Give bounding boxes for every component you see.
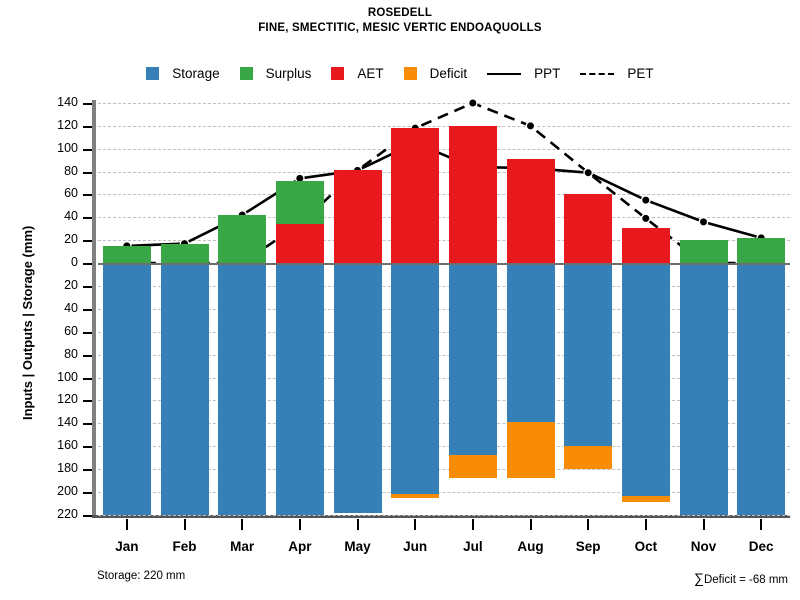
bar-storage-may [334,263,382,513]
y-tick-label: 80 [34,164,78,178]
y-axis-title: Inputs | Outputs | Storage (mm) [20,226,35,420]
page-title: ROSEDELL FINE, SMECTITIC, MESIC VERTIC E… [0,6,800,36]
x-tick-label-feb: Feb [155,539,215,554]
y-tick [83,378,92,380]
y-tick [83,400,92,402]
bar-storage-dec [737,263,785,515]
bar-surplus-feb [161,244,209,263]
x-tick-label-oct: Oct [616,539,676,554]
x-tick-label-apr: Apr [270,539,330,554]
x-tick-label-jun: Jun [385,539,445,554]
x-tick-label-jan: Jan [97,539,157,554]
legend-item-surplus[interactable]: Surplus [240,66,312,81]
y-tick [83,194,92,196]
bar-aet-jul [449,126,497,263]
legend-item-storage[interactable]: Storage [146,66,219,81]
y-tick-label: 180 [34,461,78,475]
y-tick-label: 140 [34,415,78,429]
y-tick [83,286,92,288]
legend-swatch-surplus-icon [240,67,253,80]
x-tick [472,519,474,530]
x-tick [530,519,532,530]
bar-aet-oct [622,228,670,263]
y-tick [83,172,92,174]
bar-storage-feb [161,263,209,515]
y-tick [83,469,92,471]
y-tick-label: 200 [34,484,78,498]
bar-surplus-nov [680,240,728,263]
bar-storage-mar [218,263,266,515]
chart-legend: StorageSurplusAETDeficitPPTPET [0,66,800,81]
bar-surplus-jan [103,246,151,263]
bar-surplus-dec [737,238,785,263]
legend-line-pet-icon [580,73,614,75]
x-tick-label-sep: Sep [558,539,618,554]
point-ppt-oct [642,196,650,204]
legend-label-pet: PET [627,66,653,81]
x-tick-label-aug: Aug [501,539,561,554]
y-tick [83,217,92,219]
bar-aet-may [334,170,382,263]
bar-storage-jul [449,263,497,455]
bar-deficit-aug [507,422,555,478]
legend-label-storage: Storage [172,66,219,81]
bar-deficit-jun [391,494,439,497]
title-line-1: ROSEDELL [0,6,800,21]
bar-aet-aug [507,159,555,263]
bar-storage-nov [680,263,728,515]
y-tick [83,149,92,151]
zero-line [98,263,790,265]
bar-storage-oct [622,263,670,496]
y-tick [83,446,92,448]
x-tick [645,519,647,530]
title-line-2: FINE, SMECTITIC, MESIC VERTIC ENDOAQUOLL… [0,21,800,36]
sigma-symbol: ∑ [694,570,704,586]
y-tick-label: 60 [34,324,78,338]
legend-item-aet[interactable]: AET [331,66,383,81]
legend-item-ppt[interactable]: PPT [487,66,560,81]
y-tick-label: 140 [34,95,78,109]
point-pet-oct [642,214,650,222]
x-tick [241,519,243,530]
storage-note: Storage: 220 mm [97,570,185,582]
bar-deficit-sep [564,446,612,469]
bar-surplus-apr [276,181,324,224]
y-tick-label: 160 [34,438,78,452]
y-tick [83,492,92,494]
bar-deficit-oct [622,496,670,503]
bar-surplus-mar [218,215,266,263]
bar-aet-sep [564,194,612,263]
y-tick-label: 120 [34,118,78,132]
x-tick [184,519,186,530]
y-tick [83,355,92,357]
x-tick-label-nov: Nov [674,539,734,554]
y-axis-spine [92,100,96,518]
point-ppt-nov [699,218,707,226]
point-pet-aug [526,122,534,130]
y-tick-label: 120 [34,392,78,406]
legend-label-surplus: Surplus [266,66,312,81]
x-tick [126,519,128,530]
bar-storage-apr [276,263,324,515]
y-tick [83,126,92,128]
legend-item-deficit[interactable]: Deficit [404,66,468,81]
legend-label-aet: AET [357,66,383,81]
legend-item-pet[interactable]: PET [580,66,653,81]
plot-area [98,103,790,515]
bar-aet-jun [391,128,439,263]
point-pet-jul [469,99,477,107]
x-tick [587,519,589,530]
y-tick-label: 20 [34,232,78,246]
legend-line-ppt-icon [487,73,521,75]
y-tick [83,423,92,425]
y-tick-label: 0 [34,255,78,269]
x-tick-label-dec: Dec [731,539,791,554]
bar-aet-apr [276,224,324,263]
bar-storage-aug [507,263,555,422]
bar-deficit-jul [449,455,497,478]
climate-water-balance-chart: ROSEDELL FINE, SMECTITIC, MESIC VERTIC E… [0,0,800,600]
bar-storage-jun [391,263,439,494]
legend-swatch-aet-icon [331,67,344,80]
legend-swatch-storage-icon [146,67,159,80]
y-tick-label: 100 [34,141,78,155]
deficit-total-note: ∑Deficit = -68 mm [694,570,788,586]
x-tick-label-mar: Mar [212,539,272,554]
y-tick-label: 100 [34,370,78,384]
bar-storage-sep [564,263,612,446]
x-tick [703,519,705,530]
x-tick-label-may: May [328,539,388,554]
y-tick [83,263,92,265]
y-tick-label: 220 [34,507,78,521]
x-tick-label-jul: Jul [443,539,503,554]
legend-label-ppt: PPT [534,66,560,81]
y-tick [83,240,92,242]
y-tick [83,103,92,105]
y-tick-label: 40 [34,209,78,223]
deficit-total-text: Deficit = -68 mm [704,574,788,586]
y-tick-label: 40 [34,301,78,315]
legend-label-deficit: Deficit [430,66,468,81]
y-tick-label: 20 [34,278,78,292]
x-tick [357,519,359,530]
y-tick-label: 60 [34,186,78,200]
x-tick [760,519,762,530]
bar-storage-jan [103,263,151,515]
y-tick [83,332,92,334]
y-tick-label: 80 [34,347,78,361]
gridline [98,515,790,516]
legend-swatch-deficit-icon [404,67,417,80]
point-ppt-sep [584,169,592,177]
y-tick [83,515,92,517]
x-tick [414,519,416,530]
x-tick [299,519,301,530]
y-tick [83,309,92,311]
